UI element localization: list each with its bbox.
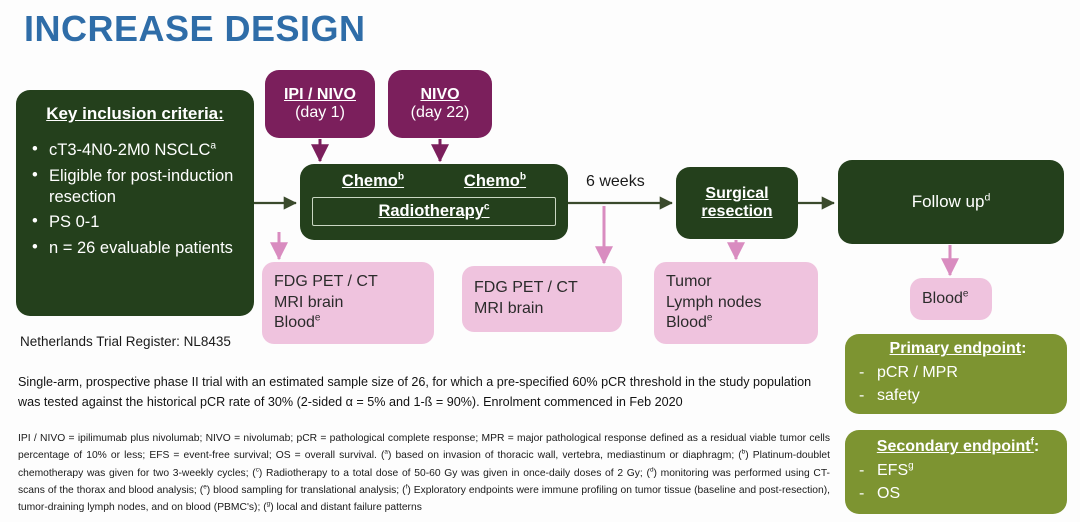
inclusion-criteria-box: Key inclusion criteria: cT3-4N0-2M0 NSCL…	[16, 90, 254, 316]
primary-endpoint-item: - pCR / MPR	[859, 362, 1057, 385]
list-item: Eligible for post-induction resection	[32, 166, 238, 208]
ipi-nivo-name: IPI / NIVO	[265, 86, 375, 104]
dash-bullet: -	[859, 483, 877, 506]
assessment-line: MRI brain	[274, 293, 422, 314]
follow-up-label: Follow upd	[838, 192, 1064, 212]
secondary-endpoint-box: Secondary endpointf: - EFSg - OS	[845, 430, 1067, 514]
assessment-line: FDG PET / CT	[474, 278, 610, 299]
assessment-line: FDG PET / CT	[274, 272, 422, 293]
list-item: cT3-4N0-2M0 NSCLCa	[32, 140, 238, 161]
interval-label: 6 weeks	[586, 173, 645, 191]
diagram-canvas: INCREASE DESIGN Key inclusion criteria: …	[0, 0, 1080, 522]
chemo-cycle-1: Chemob	[342, 172, 404, 191]
nivo-name: NIVO	[388, 86, 492, 104]
surgical-resection-box: Surgical resection	[676, 167, 798, 239]
trial-register-label: Netherlands Trial Register: NL8435	[20, 334, 231, 349]
surgery-line-2: resection	[676, 203, 798, 221]
ipi-nivo-day: (day 1)	[265, 104, 375, 122]
assessment-line: Tumor	[666, 272, 806, 293]
follow-up-box: Follow upd	[838, 160, 1064, 244]
followup-assessment-box: Bloode	[910, 278, 992, 320]
nivo-box: NIVO (day 22)	[388, 70, 492, 138]
secondary-endpoint-title: Secondary endpointf:	[859, 438, 1057, 456]
primary-endpoint-title: Primary endpoint:	[859, 340, 1057, 358]
inclusion-criteria-title: Key inclusion criteria:	[32, 104, 238, 124]
trial-description: Single-arm, prospective phase II trial w…	[18, 372, 830, 413]
chemo-cycle-2: Chemob	[464, 172, 526, 191]
dash-bullet: -	[859, 385, 877, 408]
footnotes-block: IPI / NIVO = ipilimumab plus nivolumab; …	[18, 430, 830, 516]
dash-bullet: -	[859, 362, 877, 385]
primary-endpoint-box: Primary endpoint: - pCR / MPR - safety	[845, 334, 1067, 414]
primary-endpoint-item: - safety	[859, 385, 1057, 408]
dash-bullet: -	[859, 460, 877, 483]
baseline-assessment-box: FDG PET / CT MRI brain Bloode	[262, 262, 434, 344]
chemo-row: Chemob Chemob	[312, 172, 556, 191]
assessment-line: Bloode	[274, 313, 422, 334]
nivo-day: (day 22)	[388, 104, 492, 122]
secondary-endpoint-item: - OS	[859, 483, 1057, 506]
assessment-line: Bloode	[922, 289, 980, 310]
radiotherapy-frame: Radiotherapyc	[312, 197, 556, 226]
assessment-line: Lymph nodes	[666, 293, 806, 314]
post-induction-assessment-box: FDG PET / CT MRI brain	[462, 266, 622, 332]
chemo-radiotherapy-box: Chemob Chemob Radiotherapyc	[300, 164, 568, 240]
radiotherapy-label: Radiotherapyc	[378, 202, 489, 220]
surgery-line-1: Surgical	[676, 185, 798, 203]
list-item: n = 26 evaluable patients	[32, 238, 238, 259]
resection-assessment-box: Tumor Lymph nodes Bloode	[654, 262, 818, 344]
page-title: INCREASE DESIGN	[24, 8, 366, 50]
ipi-nivo-box: IPI / NIVO (day 1)	[265, 70, 375, 138]
inclusion-criteria-list: cT3-4N0-2M0 NSCLCa Eligible for post-ind…	[32, 140, 238, 264]
assessment-line: MRI brain	[474, 299, 610, 320]
secondary-endpoint-item: - EFSg	[859, 460, 1057, 483]
list-item: PS 0-1	[32, 212, 238, 233]
assessment-line: Bloode	[666, 313, 806, 334]
